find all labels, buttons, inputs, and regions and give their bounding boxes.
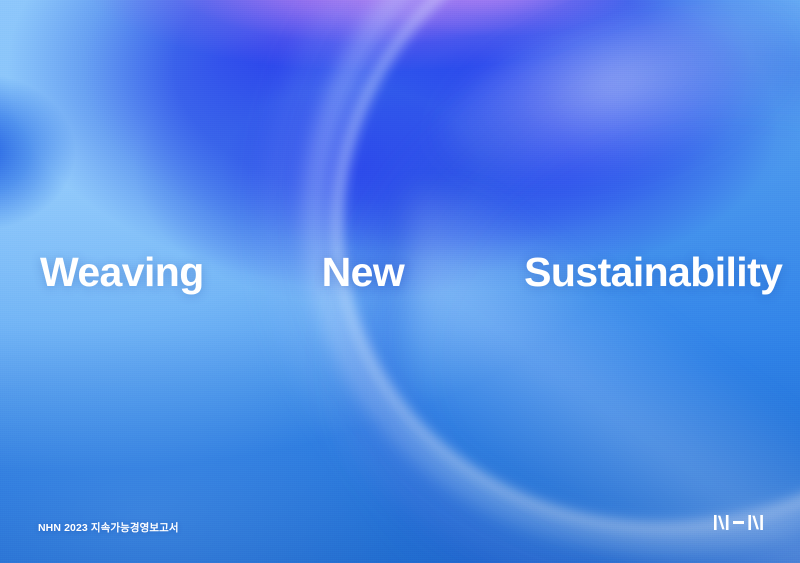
footer-report-title: NHN 2023 지속가능경영보고서 — [38, 520, 179, 535]
headline-word-weaving: Weaving — [40, 252, 204, 293]
headline-word-sustainability: Sustainability — [524, 252, 782, 293]
nhn-logo — [714, 515, 768, 530]
report-cover-page: Weaving New Sustainability NHN 2023 지속가능… — [0, 0, 800, 563]
headline-word-new: New — [322, 252, 405, 293]
cover-headline: Weaving New Sustainability — [0, 252, 800, 293]
